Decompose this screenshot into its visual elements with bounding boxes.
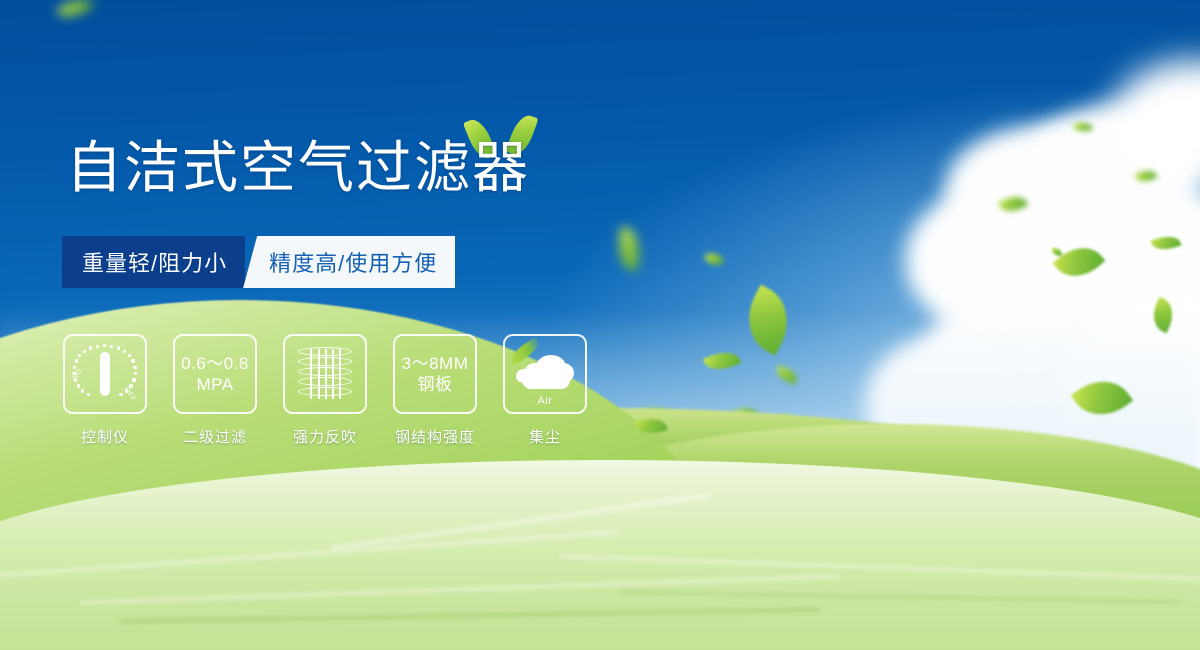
page-title: 自洁式空气过滤器 [66, 140, 530, 196]
feature-icon-box: NO OFF [63, 334, 147, 414]
feature-label: 二级过滤 [183, 426, 247, 447]
subtitle-left-segment: 重量轻/阻力小 [62, 236, 245, 288]
feature-icon-box: 3～8MM 钢板 [393, 334, 477, 414]
feature-label: 控制仪 [81, 426, 129, 447]
feature-item-backblow[interactable]: 强力反吹 [282, 334, 368, 447]
feature-item-pressure[interactable]: 0.6～0.8 MPA 二级过滤 [172, 334, 258, 447]
pressure-line-2: MPA [181, 374, 249, 395]
product-banner: 自洁式空气过滤器 重量轻/阻力小 精度高/使用方便 NO OFF [0, 0, 1200, 650]
feature-icon-box: 0.6～0.8 MPA [173, 334, 257, 414]
filter-coil-icon [298, 345, 352, 403]
dial-off-label: OFF [122, 386, 137, 403]
feature-label: 钢结构强度 [395, 426, 475, 447]
air-cloud-icon: Air [514, 351, 576, 397]
feature-item-dust-collection[interactable]: Air 集尘 [502, 334, 588, 447]
feature-item-control-dial[interactable]: NO OFF [62, 334, 148, 447]
steel-line-1: 3～8MM [402, 353, 469, 374]
steel-line-2: 钢板 [402, 374, 469, 395]
control-dial-icon: NO OFF [74, 343, 136, 405]
feature-label: 集尘 [529, 426, 561, 447]
steel-plate-text-icon: 3～8MM 钢板 [402, 353, 469, 396]
subtitle-bar: 重量轻/阻力小 精度高/使用方便 [62, 236, 460, 288]
pressure-text-icon: 0.6～0.8 MPA [181, 353, 249, 396]
subtitle-right-segment: 精度高/使用方便 [243, 236, 455, 288]
dial-needle [100, 352, 110, 396]
feature-item-steel-plate[interactable]: 3～8MM 钢板 钢结构强度 [392, 334, 478, 447]
air-label: Air [514, 395, 576, 407]
feature-label: 强力反吹 [293, 426, 357, 447]
feature-icon-box: Air [503, 334, 587, 414]
feature-list: NO OFF [62, 334, 588, 447]
feature-icon-box [283, 334, 367, 414]
pressure-line-1: 0.6～0.8 [181, 353, 249, 374]
